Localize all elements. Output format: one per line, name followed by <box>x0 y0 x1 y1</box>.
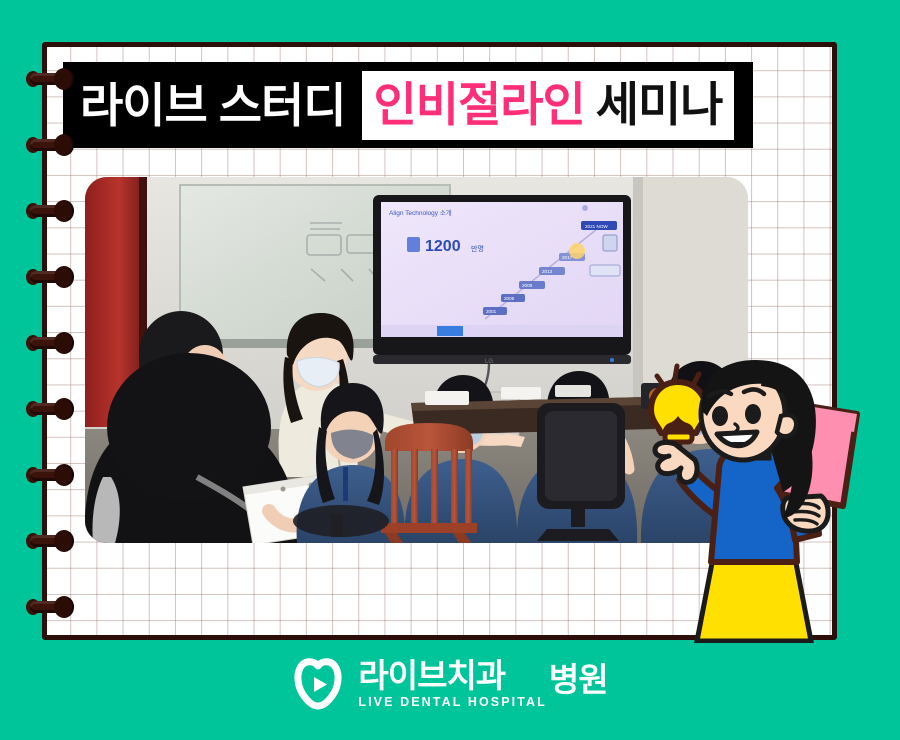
spiral-ring <box>26 464 74 486</box>
svg-text:2001: 2001 <box>486 309 497 314</box>
title-text-suffix: 세미나 <box>596 81 723 128</box>
brand-logo: 라이브치과 LIVE DENTAL HOSPITAL 병원 <box>0 658 900 710</box>
spiral-ring <box>26 266 74 288</box>
mascot-illustration <box>645 358 860 643</box>
title-text-highlight: 인비절라인 <box>374 81 585 128</box>
spiral-ring <box>26 68 74 90</box>
lightbulb-icon <box>651 366 706 442</box>
svg-text:2013: 2013 <box>542 269 553 274</box>
brand-name-korean-tail: 병원 <box>549 663 608 696</box>
svg-text:만명: 만명 <box>471 244 484 253</box>
title-highlight-box: 인비절라인 세미나 <box>362 71 735 140</box>
title-banner: 라이브 스터디 인비절라인 세미나 <box>63 62 753 148</box>
tooth-play-icon <box>292 658 344 710</box>
office-chair-2 <box>293 505 389 537</box>
spiral-ring <box>26 596 74 618</box>
spiral-ring <box>26 200 74 222</box>
brand-logo-text: 라이브치과 LIVE DENTAL HOSPITAL 병원 <box>358 659 607 708</box>
svg-text:2021 NOW: 2021 NOW <box>585 224 608 229</box>
brand-name-korean: 라이브치과 <box>358 659 547 693</box>
title-text-primary: 라이브 스터디 <box>80 82 362 129</box>
spiral-ring <box>26 398 74 420</box>
tooth-play-icon-svg <box>292 658 344 710</box>
poster-canvas: 라이브 스터디 인비절라인 세미나 <box>0 0 900 740</box>
spiral-ring <box>26 134 74 156</box>
svg-text:Align Technology 소개: Align Technology 소개 <box>389 208 452 217</box>
spiral-ring <box>26 530 74 552</box>
spiral-ring <box>26 332 74 354</box>
slide-metric: 1200 <box>425 238 461 255</box>
brand-name-english: LIVE DENTAL HOSPITAL <box>358 696 547 709</box>
svg-text:2009: 2009 <box>522 283 533 288</box>
svg-text:2005: 2005 <box>504 296 515 301</box>
mascot-character <box>645 358 860 643</box>
